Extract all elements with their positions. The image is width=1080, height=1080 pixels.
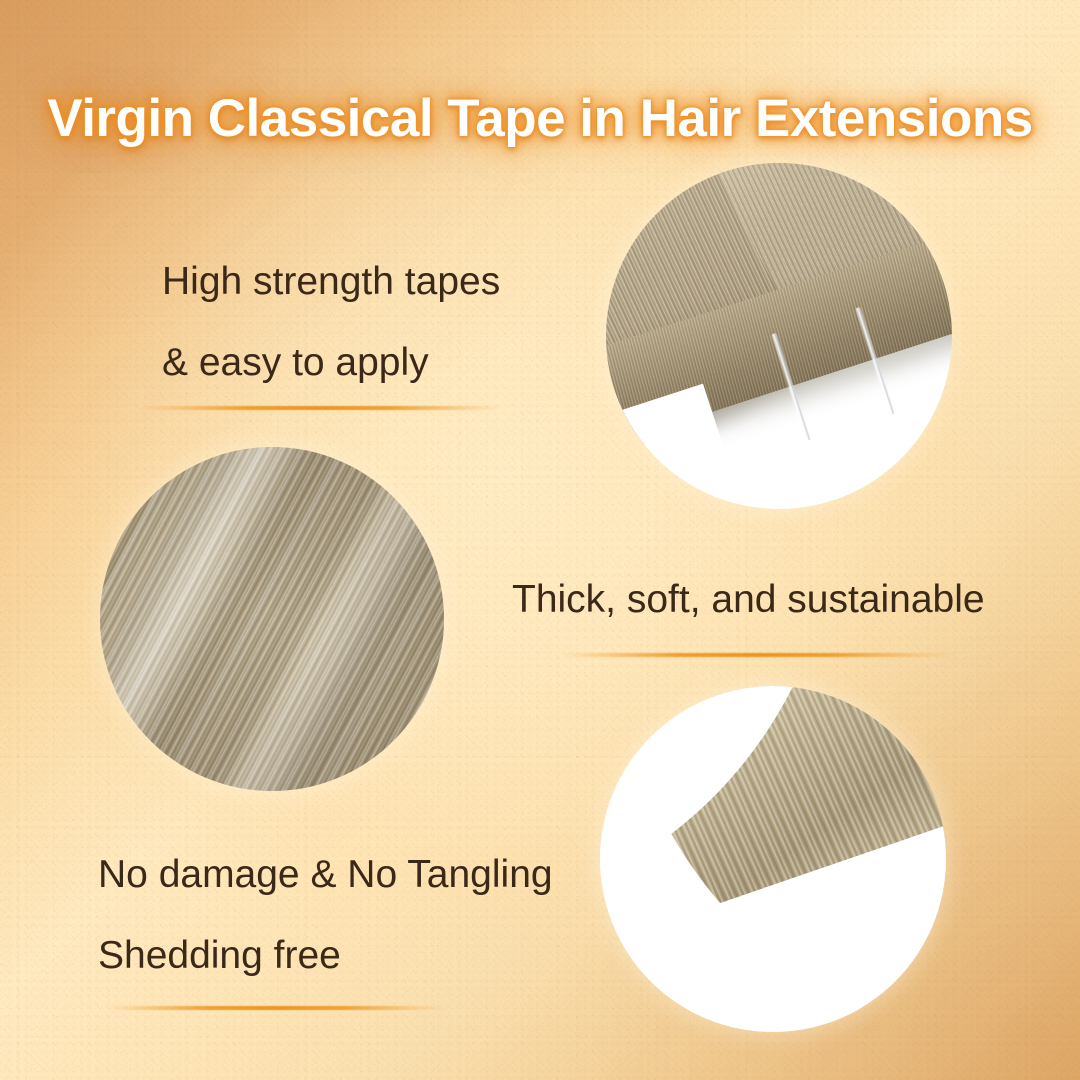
feature-line: & easy to apply — [162, 343, 500, 382]
feature-line: Shedding free — [98, 936, 553, 975]
feature-line: Thick, soft, and sustainable — [512, 580, 985, 619]
hair-sheen-overlay — [100, 447, 444, 791]
feature-divider-3 — [108, 1006, 446, 1010]
photo-hair-texture-closeup — [100, 447, 444, 791]
feature-divider-2 — [562, 653, 954, 657]
feature-line: No damage & No Tangling — [98, 855, 553, 894]
feature-high-strength-tapes: High strength tapes & easy to apply — [162, 262, 500, 382]
page-title: Virgin Classical Tape in Hair Extensions — [0, 88, 1080, 149]
feature-no-damage-no-tangling: No damage & No Tangling Shedding free — [98, 855, 553, 975]
product-infographic-poster: Virgin Classical Tape in Hair Extensions… — [0, 0, 1080, 1080]
feature-line: High strength tapes — [162, 262, 500, 301]
feature-divider-1 — [138, 406, 502, 410]
photo-hair-sweep-closeup — [600, 686, 946, 1032]
hair-sweep-image — [600, 686, 946, 1032]
feature-thick-soft-sustainable: Thick, soft, and sustainable — [512, 580, 985, 619]
photo-tape-weft-closeup — [606, 163, 952, 509]
tape-weft-image — [606, 163, 952, 509]
